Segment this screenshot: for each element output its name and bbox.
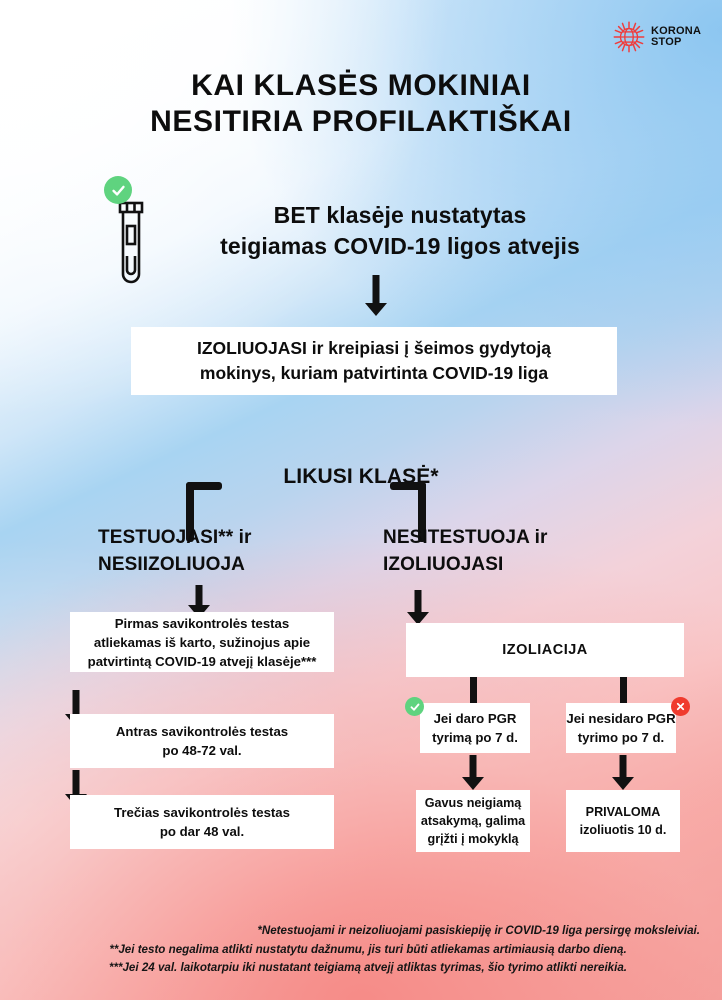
connector-izoliacija-left xyxy=(470,677,477,705)
izoliacija-box: IZOLIACIJA xyxy=(406,623,684,677)
main-instruction-box: IZOLIUOJASI ir kreipiasi į šeimos gydyto… xyxy=(131,327,617,395)
close-icon xyxy=(675,701,686,712)
lead-line1: BET klasėje nustatytas xyxy=(170,200,630,231)
left-branch-line2: NESIIZOLIUOJA xyxy=(98,551,348,578)
left-step2-line2: po 48-72 val. xyxy=(116,741,288,760)
right-outcome2-line1: PRIVALOMA xyxy=(580,803,667,821)
poster-root: KORONA STOP KAI KLASĖS MOKINIAI NESITIRI… xyxy=(0,0,722,1000)
page-title: KAI KLASĖS MOKINIAI NESITIRIA PROFILAKTI… xyxy=(0,68,722,140)
page-title-line2: NESITIRIA PROFILAKTIŠKAI xyxy=(0,104,722,140)
arrow-option2-to-outcome xyxy=(605,755,641,791)
arrow-right-to-izoliacija xyxy=(400,590,436,626)
left-step-box-1: Pirmas savikontrolės testas atliekamas i… xyxy=(70,612,334,672)
connector-izoliacija-right xyxy=(620,677,627,705)
left-step3-line2: po dar 48 val. xyxy=(114,822,290,841)
logo-text: KORONA STOP xyxy=(651,26,701,49)
right-outcome1-line3: grįžti į mokyklą xyxy=(421,830,525,848)
left-step2-line1: Antras savikontrolės testas xyxy=(116,722,288,741)
lead-line2: teigiamas COVID-19 ligos atvejis xyxy=(170,231,630,262)
left-branch-line1: TESTUOJASI** ir xyxy=(98,524,348,551)
logo-text-line2: STOP xyxy=(651,37,701,49)
x-badge-icon-option2 xyxy=(671,697,690,716)
arrow-option1-to-outcome xyxy=(455,755,491,791)
right-option-box-1: Jei daro PGR tyrimą po 7 d. xyxy=(420,703,530,753)
footnote-1: *Netestuojami ir neizoliuojami pasiskiep… xyxy=(36,922,700,941)
left-branch-label: TESTUOJASI** ir NESIIZOLIUOJA xyxy=(98,524,348,578)
main-box-line2: mokinys, kuriam patvirtinta COVID-19 lig… xyxy=(197,361,551,386)
page-title-line1: KAI KLASĖS MOKINIAI xyxy=(0,68,722,104)
right-option1-line1: Jei daro PGR xyxy=(432,709,518,728)
right-branch-line2: IZOLIUOJASI xyxy=(383,551,643,578)
right-outcome1-line1: Gavus neigiamą xyxy=(421,794,525,812)
lead-statement: BET klasėje nustatytas teigiamas COVID-1… xyxy=(170,200,630,262)
left-step-box-3: Trečias savikontrolės testas po dar 48 v… xyxy=(70,795,334,849)
right-outcome-box-1: Gavus neigiamą atsakymą, galima grįžti į… xyxy=(416,790,530,852)
main-box-line1: IZOLIUOJASI ir kreipiasi į šeimos gydyto… xyxy=(197,336,551,361)
korona-stop-logo: KORONA STOP xyxy=(612,20,701,54)
right-option2-line2: tyrimo po 7 d. xyxy=(566,728,675,747)
virus-icon xyxy=(612,20,646,54)
right-option-box-2: Jei nesidaro PGR tyrimo po 7 d. xyxy=(566,703,676,753)
footnote-2: **Jei testo negalima atlikti nustatytu d… xyxy=(36,941,700,960)
test-tube-group xyxy=(104,176,162,294)
arrow-lead-to-mainbox xyxy=(356,275,396,317)
footnotes: *Netestuojami ir neizoliuojami pasiskiep… xyxy=(36,922,700,978)
izoliacija-label: IZOLIACIJA xyxy=(502,642,588,658)
right-outcome2-line2: izoliuotis 10 d. xyxy=(580,821,667,839)
left-step1-line1: Pirmas savikontrolės testas xyxy=(88,614,317,633)
right-outcome1-line2: atsakymą, galima xyxy=(421,812,525,830)
right-option2-line1: Jei nesidaro PGR xyxy=(566,709,675,728)
check-badge-icon xyxy=(104,176,132,204)
test-tube-icon xyxy=(110,198,152,294)
right-branch-label: NESITESTUOJA ir IZOLIUOJASI xyxy=(383,524,643,578)
left-step1-line3: patvirtintą COVID-19 atvejį klasėje*** xyxy=(88,652,317,671)
right-option1-line2: tyrimą po 7 d. xyxy=(432,728,518,747)
footnote-3: ***Jei 24 val. laikotarpiu iki nustatant… xyxy=(36,959,700,978)
left-step-box-2: Antras savikontrolės testas po 48-72 val… xyxy=(70,714,334,768)
check-icon xyxy=(110,182,127,199)
right-branch-line1: NESITESTUOJA ir xyxy=(383,524,643,551)
check-badge-icon-option1 xyxy=(405,697,424,716)
left-step1-line2: atliekamas iš karto, sužinojus apie xyxy=(88,633,317,652)
check-icon xyxy=(409,701,421,713)
right-outcome-box-2: PRIVALOMA izoliuotis 10 d. xyxy=(566,790,680,852)
left-step3-line1: Trečias savikontrolės testas xyxy=(114,803,290,822)
